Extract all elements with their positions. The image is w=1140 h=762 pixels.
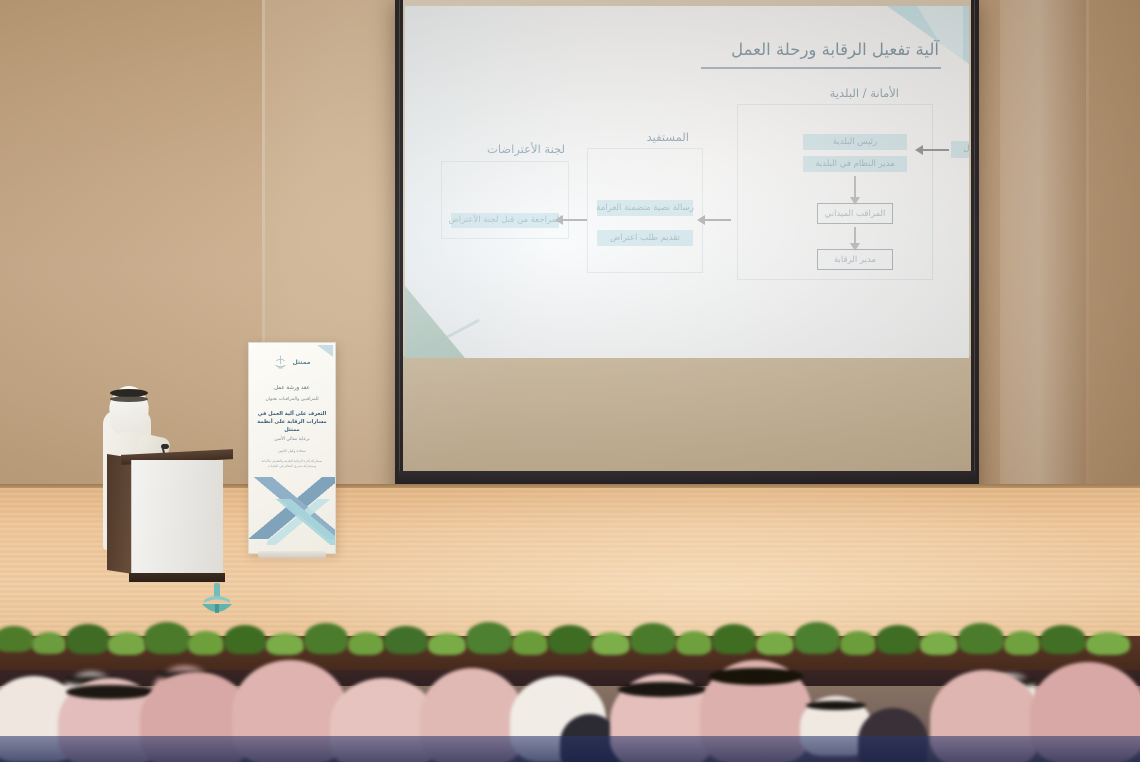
igal [709, 668, 803, 685]
banner-line-2: للمراقبين والمراقبات بعنوان [249, 397, 335, 402]
podium-front-panel [131, 460, 223, 578]
saudi-emblem-icon [274, 354, 287, 371]
banner-header: ممتثل [249, 347, 335, 377]
banner-base [258, 551, 326, 558]
podium-side-panel [107, 454, 133, 574]
podium-and-speaker [95, 370, 230, 585]
audience [0, 630, 1140, 762]
speaker-igal-lower [110, 396, 148, 402]
banner-line-4: برعاية معالي الأمين [249, 437, 335, 442]
rollup-banner: ممتثل عقد ورشة عمل للمراقبين والمراقبات … [248, 342, 336, 554]
microphone-head-icon [161, 444, 169, 449]
photo-scene: آلية تفعيل الرقابة ورحلة العمل الأمانة /… [0, 0, 1140, 762]
banner-line-5: سعادة وكيل الأمين [249, 449, 335, 453]
podium-base [129, 573, 225, 582]
banner-chevron-graphic-accent [267, 499, 336, 545]
banner-line-3: التعرف على آلية العمل في مسارات الرقابة … [249, 411, 335, 434]
igal [66, 685, 153, 699]
banner-logo-text: ممتثل [293, 359, 311, 366]
banner-line-1: عقد ورشة عمل [249, 385, 335, 391]
audience-seating [0, 736, 1140, 762]
banner-line-6: بمشاركة إدارة الرقابة البلدية والتفتيش ب… [249, 459, 335, 470]
igal [618, 682, 705, 697]
igal [806, 701, 866, 711]
